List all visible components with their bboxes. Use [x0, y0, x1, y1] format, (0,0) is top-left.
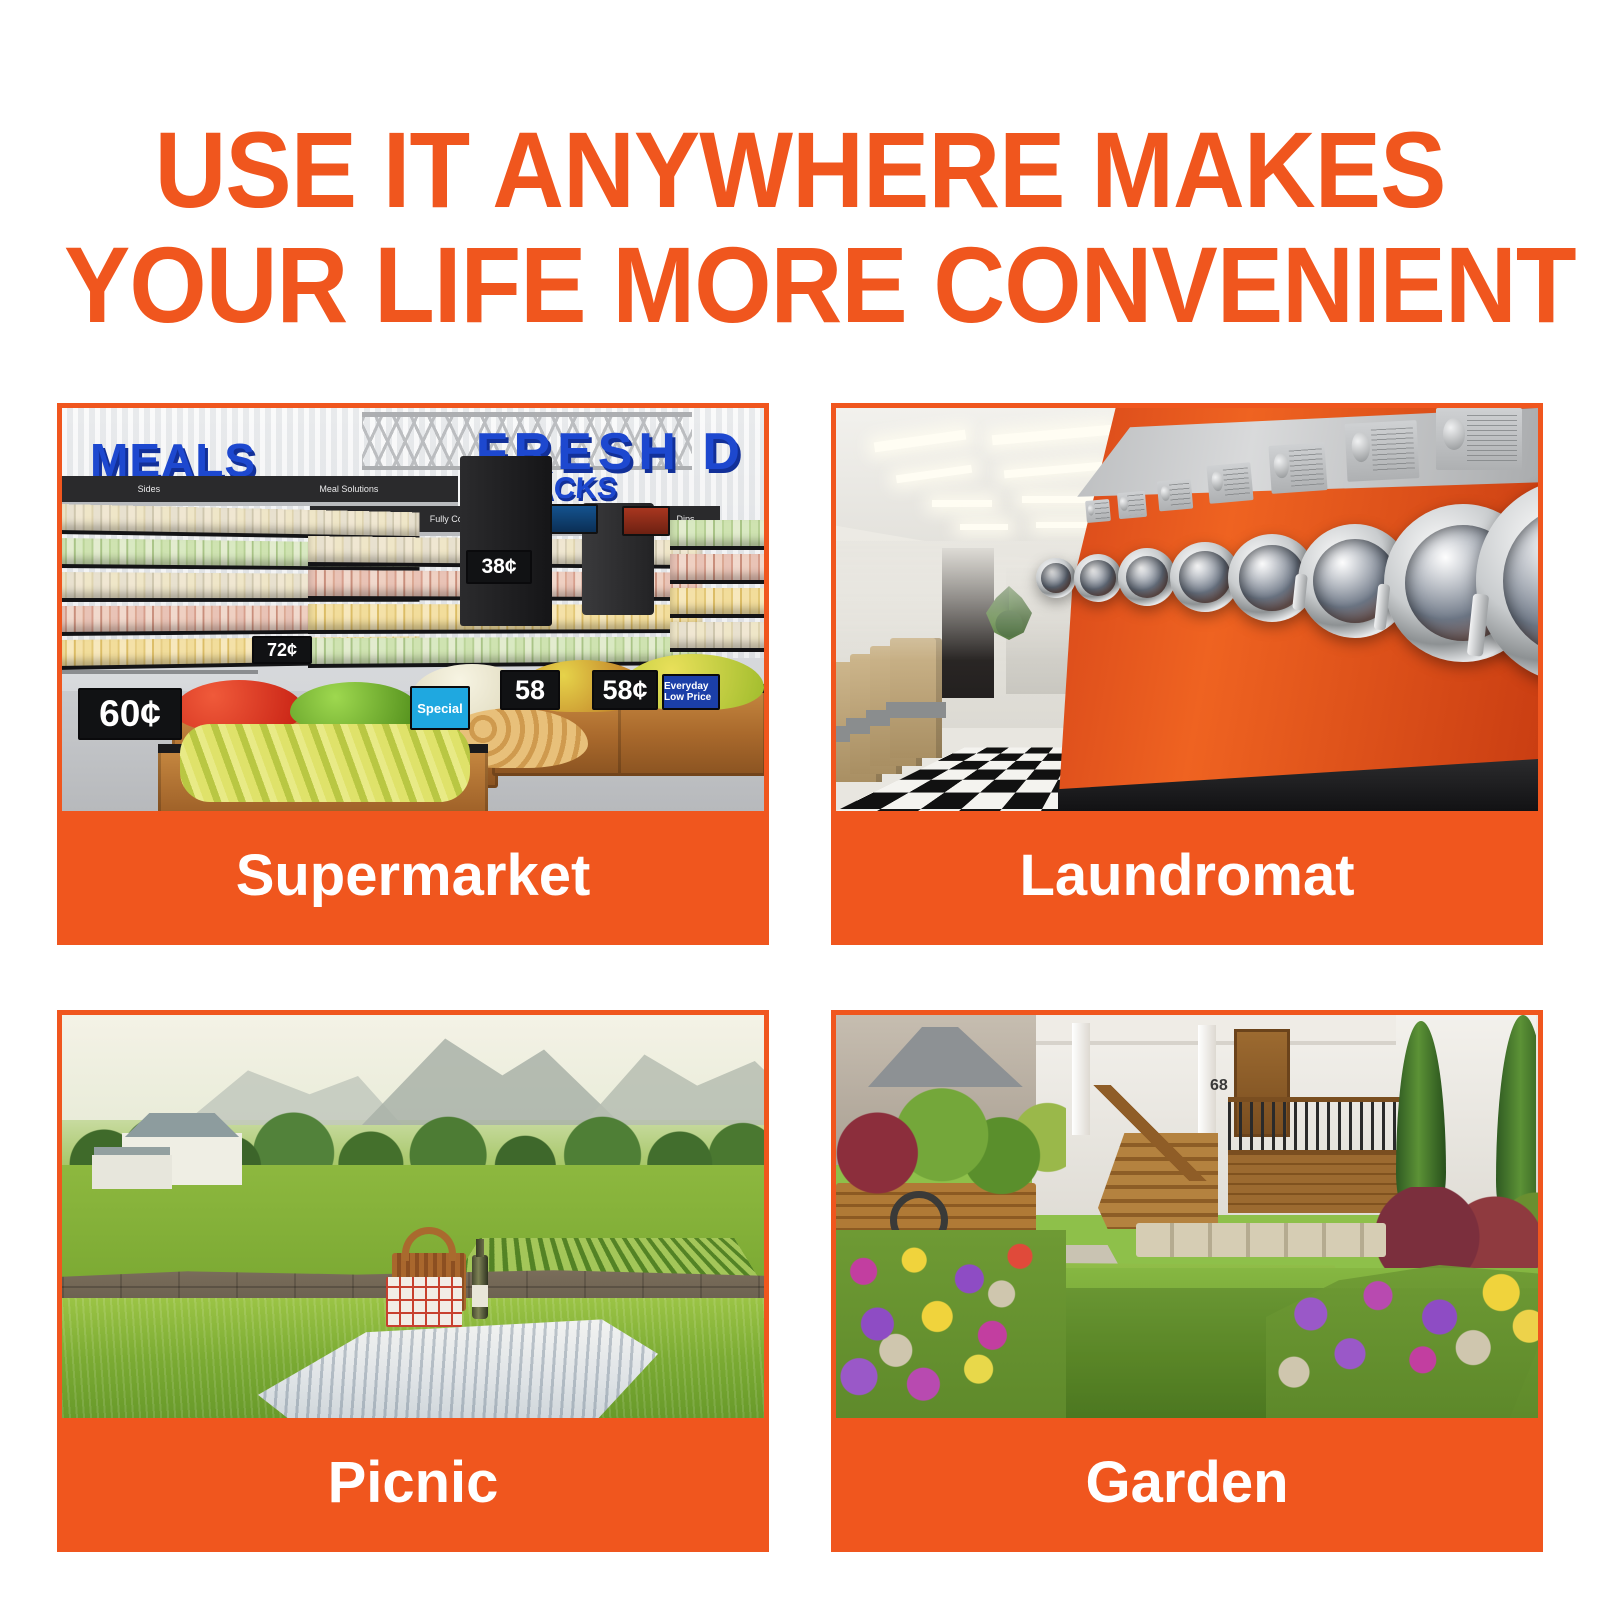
- corn-pile: [180, 724, 470, 802]
- washer-door-2[interactable]: [1074, 554, 1122, 602]
- ceiling-light-icon: [932, 500, 992, 507]
- porch-roof: [1036, 1015, 1396, 1045]
- step-handrail: [1088, 1085, 1212, 1181]
- wine-bottle: [472, 1255, 488, 1319]
- price-value: 58: [515, 675, 545, 706]
- card-caption-picnic: Picnic: [62, 1418, 764, 1547]
- price-tag-60: 60¢: [78, 688, 182, 740]
- card-caption-garden: Garden: [836, 1418, 1538, 1547]
- page-title: USE IT ANYWHERE MAKES YOUR LIFE MORE CON…: [64, 112, 1536, 342]
- grid-row-2: Picnic 68: [57, 1010, 1543, 1552]
- flower-bed-left: [836, 1230, 1066, 1418]
- machine-control-icon: [1085, 499, 1111, 523]
- card-caption-laundromat: Laundromat: [836, 811, 1538, 940]
- washer-door-3[interactable]: [1118, 548, 1176, 606]
- price-value: 38: [481, 555, 504, 579]
- grid-row-1: MEALS SIDES & SNACKS FRESH D Sides Meal …: [57, 403, 1543, 945]
- left-shrubs: [836, 1075, 1066, 1205]
- price-tag-58-b: 58¢: [592, 670, 658, 710]
- use-case-card-supermarket[interactable]: MEALS SIDES & SNACKS FRESH D Sides Meal …: [57, 403, 769, 945]
- price-value: 58: [602, 675, 632, 706]
- garden-photo: 68: [836, 1015, 1538, 1418]
- ceiling-light-icon: [960, 524, 1008, 530]
- machine-control-icon: [1268, 442, 1327, 494]
- price-tag-38: 38¢: [466, 550, 532, 584]
- aisle-banner-1: Sides Meal Solutions: [62, 476, 458, 502]
- special-label: Special: [417, 701, 463, 716]
- stone-retaining-wall: [1136, 1223, 1386, 1257]
- price-value: 60: [99, 693, 140, 735]
- special-tag: Special: [410, 686, 470, 730]
- low-price-label: Everyday Low Price: [664, 681, 718, 703]
- machine-control-icon: [1157, 479, 1193, 512]
- washer-door-1[interactable]: [1036, 558, 1076, 598]
- porch-railing: [1228, 1097, 1408, 1155]
- use-case-grid: MEALS SIDES & SNACKS FRESH D Sides Meal …: [57, 403, 1543, 1552]
- picnic-photo: [62, 1015, 764, 1418]
- machine-control-icon: [1206, 462, 1253, 504]
- price-unit: ¢: [505, 555, 517, 579]
- freezer-column: [460, 456, 552, 626]
- banner-label-meal-solutions: Meal Solutions: [319, 484, 378, 494]
- price-unit: ¢: [633, 675, 648, 706]
- card-caption-supermarket: Supermarket: [62, 811, 764, 940]
- headline-line-1: USE IT ANYWHERE MAKES: [64, 112, 1536, 227]
- promo-page: USE IT ANYWHERE MAKES YOUR LIFE MORE CON…: [0, 0, 1600, 1600]
- banner-label-sides: Sides: [138, 484, 161, 494]
- house-number: 68: [1210, 1077, 1228, 1095]
- use-case-card-picnic[interactable]: Picnic: [57, 1010, 769, 1552]
- use-case-card-laundromat[interactable]: Laundromat: [831, 403, 1543, 945]
- checkered-cloth: [386, 1277, 462, 1327]
- overhead-screen-1: [550, 504, 598, 534]
- laundromat-photo: [836, 408, 1538, 811]
- machine-control-icon: [1345, 420, 1420, 482]
- farm-outbuilding: [92, 1155, 172, 1189]
- price-unit: ¢: [140, 693, 161, 735]
- use-case-card-garden[interactable]: 68: [831, 1010, 1543, 1552]
- bottle-label: [472, 1285, 488, 1307]
- price-tag-58-a: 58: [500, 670, 560, 710]
- machine-control-icon: [1117, 491, 1147, 519]
- overhead-screen-2: [622, 506, 670, 536]
- headline-line-2: YOUR LIFE MORE CONVENIENT: [64, 227, 1536, 342]
- price-unit: ¢: [287, 640, 297, 661]
- supermarket-photo: MEALS SIDES & SNACKS FRESH D Sides Meal …: [62, 408, 764, 811]
- shelf-unit-right: [670, 520, 764, 670]
- price-tag-72: 72¢: [252, 636, 312, 664]
- price-value: 72: [267, 640, 287, 661]
- low-price-badge: Everyday Low Price: [662, 674, 720, 710]
- machine-control-icon: [1436, 408, 1522, 470]
